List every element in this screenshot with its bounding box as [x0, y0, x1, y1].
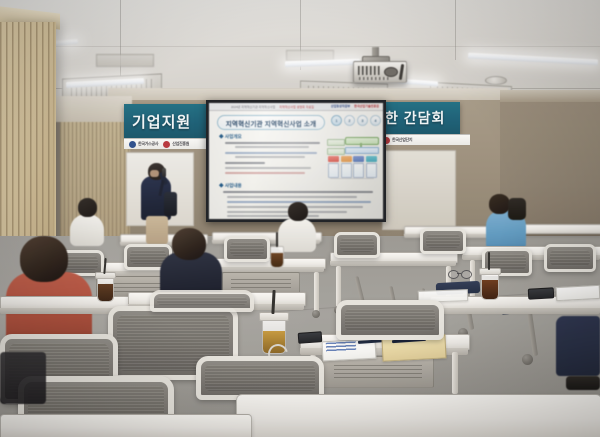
microphone — [162, 168, 166, 177]
diagram-subheader-box — [345, 147, 379, 154]
ac-vent-upper — [96, 54, 154, 67]
chair-right-mid[interactable] — [336, 300, 444, 340]
attendee-far-right-navy-legs — [556, 316, 600, 376]
desk-foreground — [236, 394, 600, 437]
slide-pager-item: 2 — [344, 115, 355, 126]
straw — [488, 252, 490, 270]
diagram-cell — [353, 156, 364, 162]
booklet-text — [326, 341, 356, 352]
diagram-side-box — [327, 139, 345, 146]
chair-mid-4[interactable] — [420, 228, 466, 254]
desk-edge — [330, 261, 456, 266]
smartphone-right[interactable] — [528, 287, 555, 299]
slide-logo-gov: 산업통상자원부 — [331, 104, 350, 108]
chair-front-center-top-rail — [150, 290, 254, 312]
seminar-room-photo: 기업지원 한국가스공사 산업진흥원 한 간담회 한국산업단지 2024년 지역혁… — [0, 0, 600, 437]
attendee-mid-left-white-body — [70, 214, 104, 246]
attendee-front-left-red-head — [20, 236, 68, 282]
slide-pager: 1 2 3 4 5 — [331, 115, 383, 126]
desk-modesty-panel — [322, 356, 434, 388]
ceiling-speaker — [485, 76, 507, 85]
slide-text-line — [225, 167, 311, 169]
desk-leg — [314, 272, 319, 312]
slide-breadcrumb: 2024년 지역혁신기관 지역혁신사업 — [231, 105, 275, 109]
slide-text-line — [225, 172, 305, 174]
diagram-detail-cell — [328, 163, 339, 178]
slide-diagram — [327, 137, 377, 181]
presenter-bag — [164, 192, 177, 216]
wood-slat-column — [0, 22, 56, 252]
attendee-far-right-shoes — [566, 376, 600, 390]
banner-left: 기업지원 — [124, 104, 208, 138]
iced-coffee-cup-center[interactable] — [270, 246, 284, 268]
desk-caster — [312, 310, 320, 318]
banner-right: 한 간담회 — [378, 102, 460, 134]
slide-section-overview-heading: ◆ 사업개요 — [219, 134, 242, 140]
attendee-right-hair-back — [508, 198, 526, 220]
slide-text-line — [225, 142, 320, 144]
logo-left-2-text: 산업진흥원 — [172, 141, 189, 147]
slide-text-line — [225, 152, 317, 154]
wall-panel-right — [382, 150, 456, 230]
diagram-caption-line — [330, 178, 374, 179]
diagram-header-box — [345, 137, 379, 145]
straw — [276, 232, 278, 247]
cup-lid — [95, 272, 116, 279]
ceiling-seam — [0, 46, 600, 47]
bag-on-floor — [0, 352, 46, 404]
slide-text-line — [223, 191, 373, 193]
diagram-cell — [328, 156, 339, 162]
slide-text-line — [225, 162, 265, 164]
diagram-color-row — [328, 156, 377, 162]
diagram-cell — [341, 156, 352, 162]
chair-caster — [522, 354, 533, 365]
diagram-detail-cell — [353, 163, 364, 178]
smartphone-left[interactable] — [298, 331, 323, 344]
desk-leg — [452, 352, 458, 394]
logo-right-1-text: 한국산업단지 — [392, 137, 412, 143]
slide-logo-agency: 한국산업기술진흥원 — [354, 104, 379, 108]
slide-header-logos: 산업통상자원부 한국산업기술진흥원 — [331, 104, 379, 108]
iced-coffee-cup-left[interactable] — [97, 276, 114, 302]
logo-left-1-text: 한국가스공사 — [138, 141, 158, 147]
slide-text-line — [227, 196, 357, 198]
logo-right-1: 한국산업단지 — [383, 137, 412, 144]
logo-left-2: 산업진흥원 — [163, 141, 189, 148]
logo-left-1: 한국가스공사 — [129, 141, 158, 148]
slide-text-line — [227, 211, 347, 213]
slide-breadcrumb-highlight: 지역혁신사업 설명회 자료집 — [279, 105, 314, 109]
banner-left-logo-strip: 한국가스공사 산업진흥원 — [124, 138, 218, 149]
cup-lid — [479, 268, 501, 275]
right-wall-cornice — [500, 90, 600, 102]
diagram-detail-row — [328, 163, 377, 176]
banner-right-logo-strip: 한국산업단지 — [378, 134, 470, 145]
attendee-center-navy-head — [172, 228, 206, 260]
attendee-mid-left-white-head — [78, 198, 97, 217]
paper-right[interactable] — [556, 285, 600, 301]
ceiling-seam — [455, 0, 456, 60]
iced-coffee-cup-right[interactable] — [481, 272, 499, 300]
chair-mid-6[interactable] — [544, 244, 596, 272]
slide-text-line — [235, 146, 309, 148]
banner-left-text: 기업지원 — [132, 111, 191, 132]
diagram-detail-cell — [341, 163, 352, 178]
attendee-center-white-head — [288, 202, 308, 221]
slide-text-line — [235, 156, 305, 158]
desk-edge — [430, 308, 600, 314]
slide-title-text: 지역혁신기관 지역혁신사업 소개 — [226, 118, 317, 128]
slide-title-box: 지역혁신기관 지역혁신사업 소개 — [217, 115, 325, 130]
diagram-cell — [366, 156, 377, 162]
presenter-trousers — [146, 216, 168, 244]
desk-foreground-left — [0, 414, 252, 437]
chair-mid-1[interactable] — [224, 236, 270, 262]
chair-mid-3[interactable] — [334, 232, 380, 258]
presenter-face — [150, 170, 159, 177]
slide-section-content-heading: ◆ 사업내용 — [219, 183, 242, 189]
slide-pager-item: 1 — [331, 115, 342, 126]
slide-pager-item: 4 — [370, 115, 381, 126]
eyeglasses[interactable] — [448, 270, 472, 278]
left-soffit — [52, 96, 132, 122]
slide-pager-item: 3 — [357, 115, 368, 126]
attendee-right-blue-head — [489, 194, 510, 214]
column-edge — [53, 22, 56, 252]
banner-right-text: 한 간담회 — [385, 108, 445, 128]
diagram-detail-cell — [366, 163, 377, 178]
diagram-side-box — [327, 148, 345, 155]
